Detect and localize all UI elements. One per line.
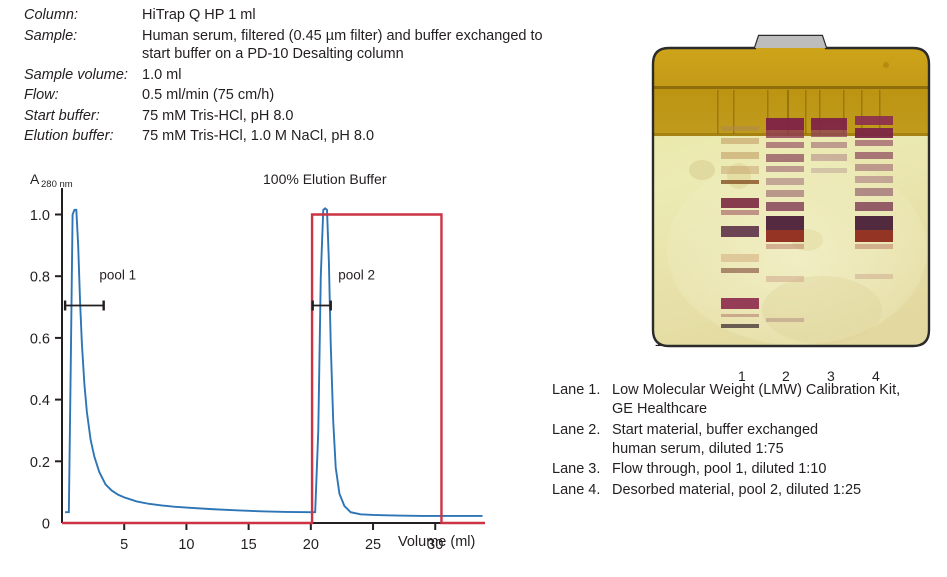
legend-line2: GE Healthcare — [612, 400, 900, 419]
method-key: Flow: — [24, 86, 142, 107]
gel-blemish — [762, 276, 882, 344]
method-value-line1: 75 mM Tris-HCl, 1.0 M NaCl, pH 8.0 — [142, 128, 374, 144]
gel-blemish — [689, 160, 715, 180]
gel-photograph — [647, 30, 937, 366]
method-value: 75 mM Tris-HCl, pH 8.0 — [142, 107, 543, 128]
gel-well-line — [647, 86, 937, 89]
method-value: 1.0 ml — [142, 66, 543, 87]
table-row: Start buffer: 75 mM Tris-HCl, pH 8.0 — [24, 107, 543, 128]
y-axis-label-sub: 280 nm — [41, 179, 73, 190]
method-value-line1: 75 mM Tris-HCl, pH 8.0 — [142, 108, 293, 124]
method-value: Human serum, filtered (0.45 µm filter) a… — [142, 27, 543, 66]
method-key: Start buffer: — [24, 107, 142, 128]
x-axis-label: Volume (ml) — [398, 534, 475, 550]
method-table: Column: HiTrap Q HP 1 ml Sample: Human s… — [24, 6, 543, 148]
method-value-line2: start buffer on a PD-10 Desalting column — [142, 45, 543, 64]
legend-line1: Low Molecular Weight (LMW) Calibration K… — [612, 382, 900, 398]
legend-line1: Start material, buffer exchanged — [612, 422, 818, 438]
method-key: Column: — [24, 6, 142, 27]
y-axis-label: A — [30, 171, 40, 187]
list-item: Lane 4. Desorbed material, pool 2, dilut… — [552, 481, 942, 500]
method-value: 0.5 ml/min (75 cm/h) — [142, 86, 543, 107]
y-tick-label: 0.6 — [30, 331, 50, 347]
y-tick-label: 0.2 — [30, 455, 50, 471]
table-row: Sample: Human serum, filtered (0.45 µm f… — [24, 27, 543, 66]
elution-buffer-annotation: 100% Elution Buffer — [263, 171, 387, 187]
legend-line2: human serum, diluted 1:75 — [612, 440, 818, 459]
method-table-body: Column: HiTrap Q HP 1 ml Sample: Human s… — [24, 6, 543, 148]
method-value: HiTrap Q HP 1 ml — [142, 6, 543, 27]
legend-lane-number: Lane 1. — [552, 381, 612, 419]
gel-body — [647, 30, 937, 366]
table-row: Column: HiTrap Q HP 1 ml — [24, 6, 543, 27]
y-tick-label: 1.0 — [30, 208, 50, 224]
method-key: Elution buffer: — [24, 127, 142, 148]
list-item: Lane 3. Flow through, pool 1, diluted 1:… — [552, 460, 942, 479]
legend-lane-text: Low Molecular Weight (LMW) Calibration K… — [612, 381, 900, 419]
chromatogram-chart: A 280 nm 100% Elution Buffer 00.20.40.60… — [0, 168, 500, 568]
method-value-line1: 0.5 ml/min (75 cm/h) — [142, 87, 274, 103]
method-value-line1: 1.0 ml — [142, 67, 182, 83]
axis-lines — [62, 188, 485, 523]
table-row: Elution buffer: 75 mM Tris-HCl, 1.0 M Na… — [24, 127, 543, 148]
series-line — [62, 215, 485, 523]
y-tick-label: 0.8 — [30, 270, 50, 286]
pool-marker: pool 1 — [65, 267, 136, 310]
method-parameters-table: Column: HiTrap Q HP 1 ml Sample: Human s… — [24, 6, 624, 148]
method-value-line1: HiTrap Q HP 1 ml — [142, 7, 256, 23]
x-tick-label: 20 — [303, 537, 319, 553]
list-item: Lane 2. Start material, buffer exchanged… — [552, 421, 942, 459]
data-series — [62, 208, 485, 523]
pool-label: pool 2 — [338, 267, 375, 282]
legend-lane-number: Lane 2. — [552, 421, 612, 459]
gel-spot — [883, 62, 889, 68]
legend-line1: Flow through, pool 1, diluted 1:10 — [612, 461, 826, 477]
x-tick-label: 5 — [120, 537, 128, 553]
legend-lane-number: Lane 4. — [552, 481, 612, 500]
method-key: Sample volume: — [24, 66, 142, 87]
legend-lane-text: Start material, buffer exchanged human s… — [612, 421, 818, 459]
series-line — [65, 208, 482, 516]
pool-marker: pool 2 — [313, 267, 375, 310]
x-tick-label: 15 — [241, 537, 257, 553]
method-value-line1: Human serum, filtered (0.45 µm filter) a… — [142, 28, 543, 44]
x-tick-label: 10 — [178, 537, 194, 553]
y-tick-label: 0 — [42, 517, 50, 533]
table-row: Sample volume: 1.0 ml — [24, 66, 543, 87]
chromatogram-svg: A 280 nm 100% Elution Buffer 00.20.40.60… — [0, 168, 500, 568]
legend-lane-text: Desorbed material, pool 2, diluted 1:25 — [612, 481, 861, 500]
sds-page-gel-block: Mr 97 00066 00045 00030 00020 10014 400 — [600, 18, 947, 378]
y-axis-ticks: 00.20.40.60.81.0 — [30, 208, 62, 532]
legend-lane-text: Flow through, pool 1, diluted 1:10 — [612, 460, 826, 479]
gel-lane-legend: Lane 1. Low Molecular Weight (LMW) Calib… — [552, 381, 942, 502]
legend-line1: Desorbed material, pool 2, diluted 1:25 — [612, 482, 861, 498]
table-row: Flow: 0.5 ml/min (75 cm/h) — [24, 86, 543, 107]
y-tick-label: 0.4 — [30, 393, 50, 409]
method-value: 75 mM Tris-HCl, 1.0 M NaCl, pH 8.0 — [142, 127, 543, 148]
legend-lane-number: Lane 3. — [552, 460, 612, 479]
list-item: Lane 1. Low Molecular Weight (LMW) Calib… — [552, 381, 942, 419]
method-key: Sample: — [24, 27, 142, 66]
x-tick-label: 25 — [365, 537, 381, 553]
gel-top-notch — [755, 36, 826, 48]
pool-label: pool 1 — [99, 267, 136, 282]
x-axis-ticks: 51015202530 — [120, 523, 443, 553]
